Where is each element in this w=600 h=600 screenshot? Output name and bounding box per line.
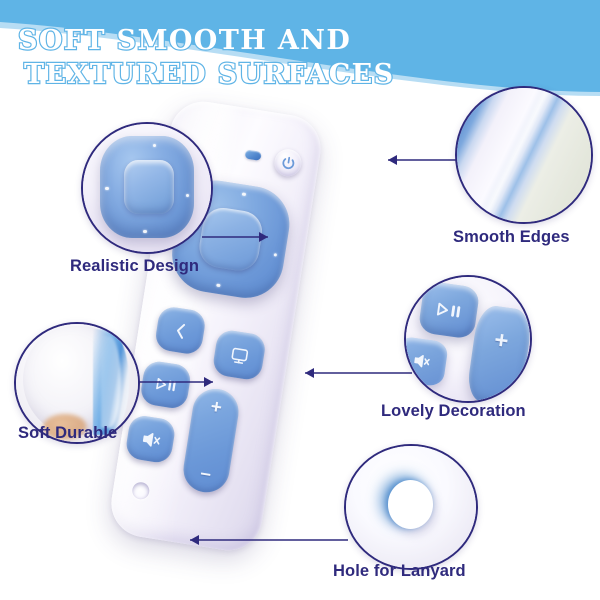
tv-button[interactable] [211, 328, 267, 381]
dpad-macro-dot [105, 187, 108, 190]
play-pause-icon [153, 375, 179, 395]
dpad-dot [242, 192, 246, 196]
dpad-macro-art [83, 124, 211, 252]
tv-icon [228, 344, 251, 366]
volume-down-label[interactable]: – [199, 464, 212, 484]
callout-label-hole-for-lanyard: Hole for Lanyard [333, 562, 466, 581]
dpad-macro-dot [186, 194, 189, 197]
edge-bands-macro-art [457, 88, 591, 222]
volume-up-label[interactable]: + [209, 397, 223, 418]
power-icon [279, 154, 297, 172]
lanyard-hole-macro [388, 480, 434, 529]
callout-circle-hole-for-lanyard[interactable] [344, 444, 478, 570]
edge-highlight [473, 86, 557, 224]
callout-label-lovely-decoration: Lovely Decoration [381, 402, 526, 421]
lanyard-hole-macro-art [346, 446, 476, 568]
callout-label-realistic-design: Realistic Design [70, 257, 199, 276]
dpad-dot [273, 253, 277, 257]
chevron-left-icon [171, 320, 189, 341]
callout-label-soft-durable: Soft Durable [18, 424, 117, 443]
macro-mute-button[interactable] [404, 336, 449, 387]
buttons-macro-art: + [406, 277, 530, 401]
infographic-canvas: SOFT SMOOTH AND TEXTURED SURFACES [0, 0, 600, 600]
dpad-macro-dot [143, 230, 146, 233]
dpad-macro-dot [153, 144, 156, 147]
callout-circle-smooth-edges[interactable] [455, 86, 593, 224]
mute-icon [139, 428, 163, 450]
macro-volume-up-label: + [492, 326, 510, 356]
callout-circle-realistic-design[interactable] [81, 122, 213, 254]
callout-circle-lovely-decoration[interactable]: + [404, 275, 532, 403]
macro-mute-icon [410, 351, 432, 372]
dpad-macro-center [124, 160, 174, 214]
callout-label-smooth-edges: Smooth Edges [453, 228, 570, 247]
dpad-dot [216, 284, 220, 288]
macro-play-pause-button[interactable] [418, 281, 481, 340]
macro-play-pause-icon [433, 300, 465, 321]
